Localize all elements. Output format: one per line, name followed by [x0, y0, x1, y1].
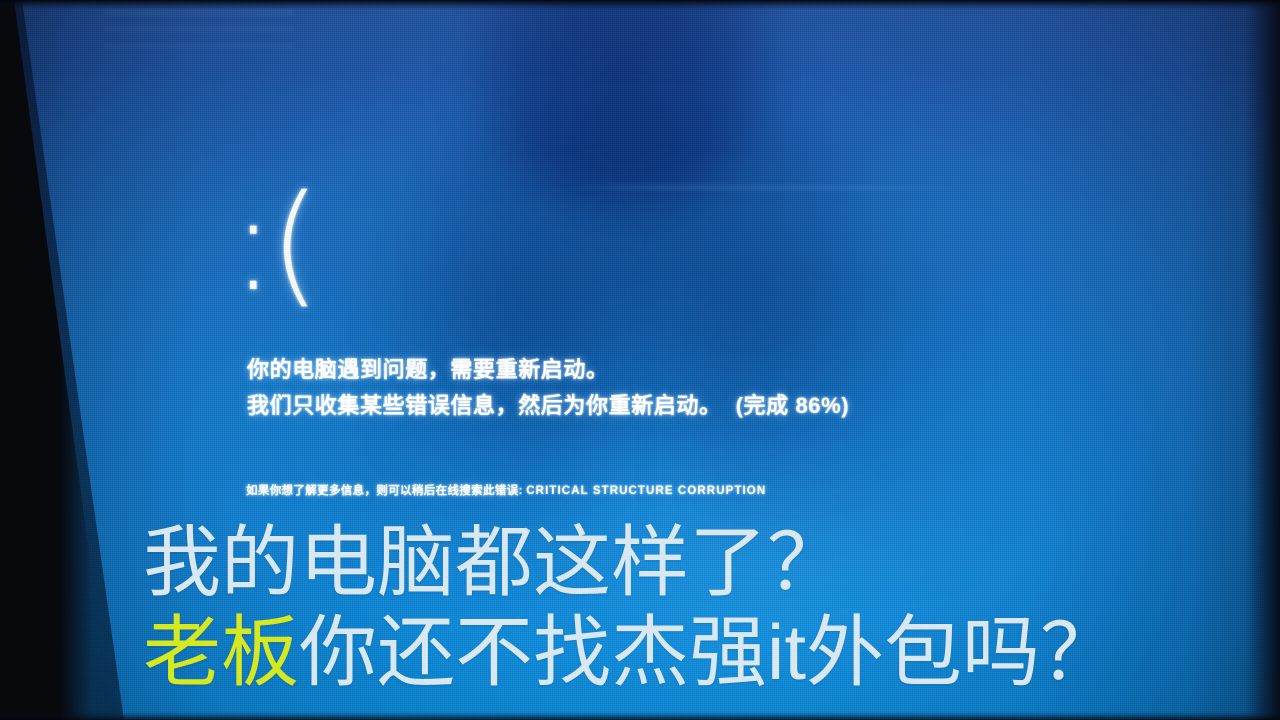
- caption-highlight: 老板: [143, 608, 299, 696]
- monitor-photo: :( 你的电脑遇到问题，需要重新启动。 我们只收集某些错误信息，然后为你重新启动…: [0, 0, 1280, 720]
- monitor-bezel-top: [0, 0, 1280, 10]
- caption-line-2: 老板你还不找杰强it外包吗？: [143, 608, 1243, 696]
- caption-line-1: 我的电脑都这样了？: [143, 518, 1243, 606]
- monitor-bezel-right: [1246, 0, 1280, 720]
- overlay-caption: 我的电脑都这样了？ 老板你还不找杰强it外包吗？: [143, 518, 1243, 696]
- caption-line-2-rest: 你还不找杰强it外包吗？: [299, 608, 1118, 696]
- monitor-bezel-bottom: [0, 712, 1280, 720]
